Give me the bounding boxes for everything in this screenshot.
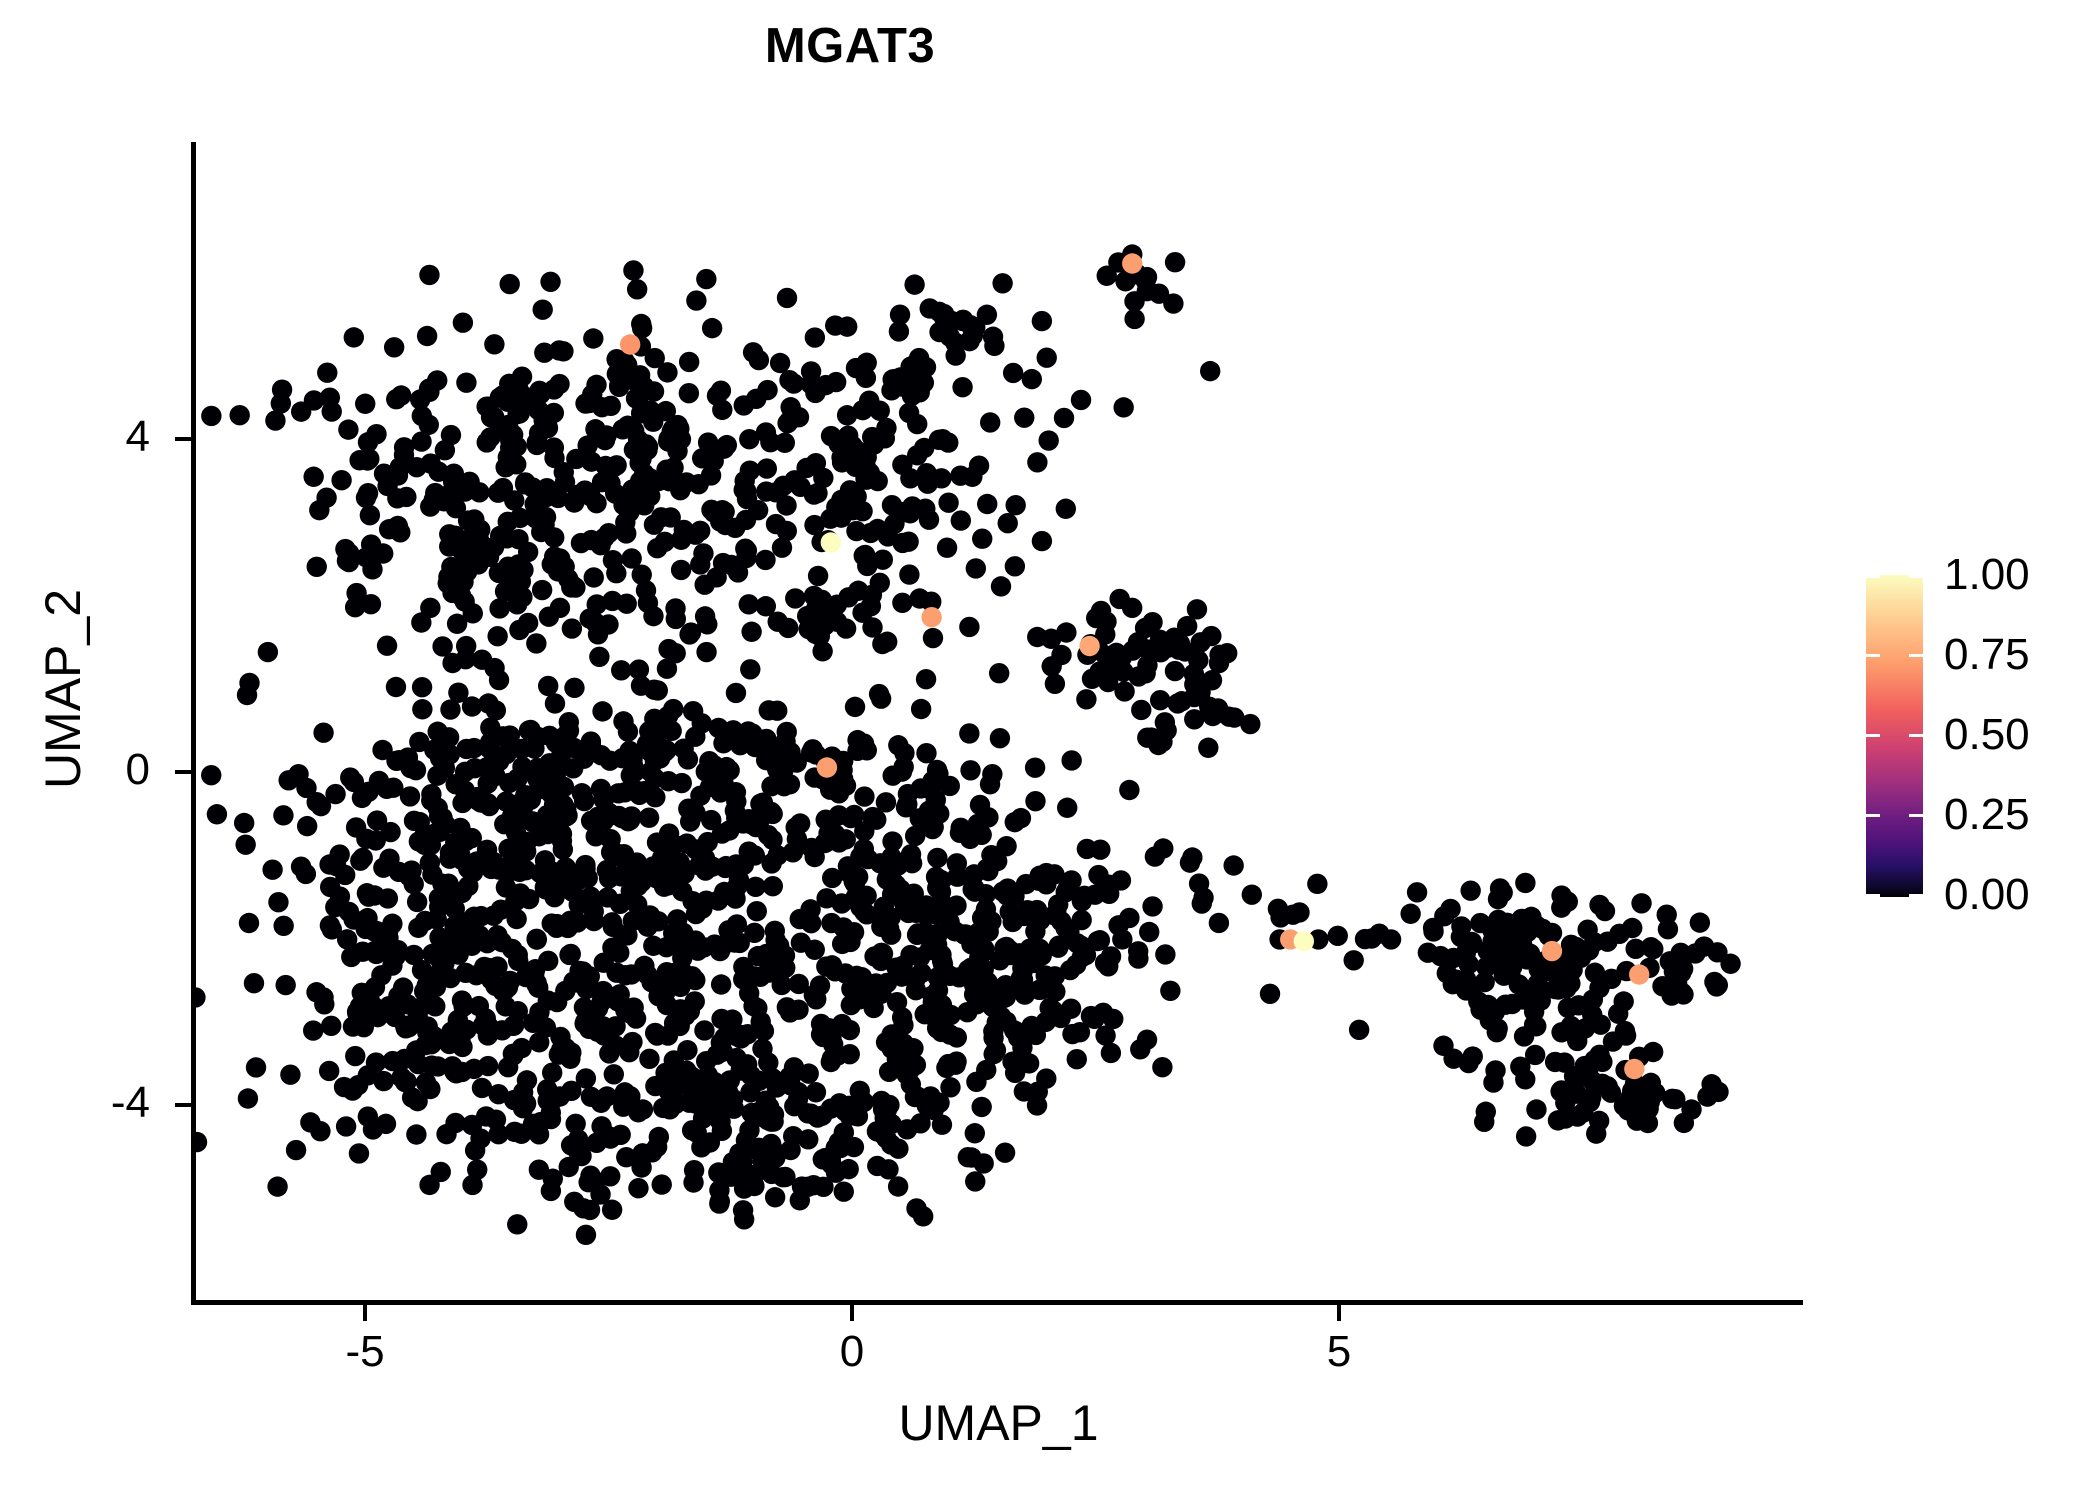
scatter-point xyxy=(1003,363,1023,383)
scatter-point xyxy=(1056,622,1076,642)
scatter-point xyxy=(1407,882,1427,902)
scatter-point xyxy=(777,413,797,433)
scatter-point xyxy=(989,663,1009,683)
scatter-point xyxy=(779,1066,799,1086)
scatter-point xyxy=(807,483,827,503)
scatter-point xyxy=(352,788,372,808)
scatter-point xyxy=(602,1200,622,1220)
scatter-point xyxy=(907,414,927,434)
scatter-point xyxy=(631,449,651,469)
scatter-point xyxy=(1010,943,1030,963)
scatter-point xyxy=(1198,738,1218,758)
scatter-point xyxy=(472,1078,492,1098)
scatter-point xyxy=(712,500,732,520)
scatter-point xyxy=(390,457,410,477)
scatter-point xyxy=(303,467,323,487)
scatter-point xyxy=(357,450,377,470)
scatter-point xyxy=(1577,920,1597,940)
scatter-point xyxy=(1165,252,1185,272)
scatter-point xyxy=(594,788,614,808)
scatter-point xyxy=(296,778,316,798)
scatter-point xyxy=(828,434,848,454)
scatter-point xyxy=(870,573,890,593)
scatter-point xyxy=(201,406,221,426)
scatter-point xyxy=(679,383,699,403)
scatter-point xyxy=(773,476,793,496)
scatter-point xyxy=(539,726,559,746)
scatter-point xyxy=(601,396,621,416)
scatter-point xyxy=(1122,253,1142,273)
scatter-point xyxy=(621,964,641,984)
scatter-point xyxy=(366,424,386,444)
scatter-point xyxy=(1490,954,1510,974)
scatter-point xyxy=(1061,998,1081,1018)
scatter-point xyxy=(278,770,298,790)
scatter-point xyxy=(530,863,550,883)
scatter-point xyxy=(267,1176,287,1196)
scatter-point xyxy=(1603,1031,1623,1051)
scatter-point xyxy=(667,441,687,461)
scatter-point xyxy=(639,1049,659,1069)
scatter-point xyxy=(412,699,432,719)
scatter-point xyxy=(1122,598,1142,618)
scatter-point xyxy=(778,618,798,638)
scatter-point xyxy=(421,784,441,804)
scatter-point xyxy=(736,481,756,501)
scatter-point xyxy=(1095,1025,1115,1045)
scatter-point xyxy=(844,922,864,942)
scatter-point xyxy=(938,1054,958,1074)
scatter-layer xyxy=(194,142,1803,1303)
scatter-point xyxy=(633,1099,653,1119)
scatter-point xyxy=(586,826,606,846)
scatter-point xyxy=(1071,910,1091,930)
scatter-point xyxy=(1165,661,1185,681)
scatter-point xyxy=(962,467,982,487)
scatter-point xyxy=(586,493,606,513)
scatter-point xyxy=(291,401,311,421)
scatter-point xyxy=(965,1123,985,1143)
scatter-point xyxy=(671,560,691,580)
scatter-point xyxy=(408,918,428,938)
scatter-point xyxy=(977,305,997,325)
scatter-point xyxy=(498,977,518,997)
scatter-point xyxy=(1672,982,1692,1002)
scatter-point xyxy=(919,509,939,529)
scatter-point xyxy=(733,1200,753,1220)
colorbar-tick-label: 0.50 xyxy=(1944,713,2094,757)
scatter-point xyxy=(1160,981,1180,1001)
scatter-point xyxy=(679,352,699,372)
scatter-point xyxy=(529,1032,549,1052)
scatter-point xyxy=(486,700,506,720)
scatter-point xyxy=(532,299,552,319)
scatter-point xyxy=(1223,855,1243,875)
colorbar-tick xyxy=(1909,734,1923,737)
scatter-point xyxy=(711,974,731,994)
scatter-point xyxy=(442,1056,462,1076)
scatter-point xyxy=(1294,931,1314,951)
scatter-point xyxy=(420,453,440,473)
scatter-point xyxy=(584,911,604,931)
scatter-point xyxy=(246,1057,266,1077)
scatter-point xyxy=(1032,311,1052,331)
scatter-point xyxy=(991,576,1011,596)
scatter-point xyxy=(542,822,562,842)
scatter-point xyxy=(373,543,393,563)
scatter-point xyxy=(641,972,661,992)
scatter-point xyxy=(321,1016,341,1036)
scatter-point xyxy=(507,594,527,614)
scatter-point xyxy=(1474,972,1494,992)
scatter-point xyxy=(523,813,543,833)
scatter-point xyxy=(737,540,757,560)
scatter-point xyxy=(803,1175,823,1195)
scatter-point xyxy=(680,811,700,831)
scatter-point xyxy=(466,965,486,985)
scatter-point xyxy=(484,334,504,354)
scatter-point xyxy=(432,636,452,656)
scatter-point xyxy=(1555,1108,1575,1128)
scatter-point xyxy=(966,558,986,578)
y-axis-title: UMAP_2 xyxy=(34,339,92,1039)
scatter-point xyxy=(662,859,682,879)
scatter-point xyxy=(1476,1102,1496,1122)
scatter-point xyxy=(1629,964,1649,984)
scatter-point xyxy=(244,973,264,993)
scatter-point xyxy=(1670,963,1690,983)
scatter-point xyxy=(1113,397,1133,417)
scatter-point xyxy=(427,909,447,929)
scatter-point xyxy=(539,606,559,626)
scatter-point xyxy=(618,722,638,742)
colorbar-tick-label: 1.00 xyxy=(1944,553,2094,597)
scatter-point xyxy=(356,829,376,849)
scatter-point xyxy=(1487,1018,1507,1038)
scatter-point xyxy=(665,598,685,618)
scatter-point xyxy=(1609,924,1629,944)
scatter-point xyxy=(1036,874,1056,894)
scatter-point xyxy=(659,823,679,843)
scatter-point xyxy=(1565,1071,1585,1091)
scatter-point xyxy=(1014,1081,1034,1101)
scatter-point xyxy=(1545,1052,1565,1072)
scatter-point xyxy=(821,1052,841,1072)
scatter-point xyxy=(890,305,910,325)
scatter-point xyxy=(1057,879,1077,899)
scatter-point xyxy=(435,758,455,778)
scatter-point xyxy=(1488,889,1508,909)
colorbar-tick xyxy=(1866,734,1880,737)
scatter-point xyxy=(938,493,958,513)
scatter-point xyxy=(576,1225,596,1245)
scatter-point xyxy=(1643,939,1663,959)
scatter-point xyxy=(714,1027,734,1047)
scatter-point xyxy=(702,318,722,338)
scatter-point xyxy=(489,670,509,690)
scatter-point xyxy=(708,890,728,910)
scatter-point xyxy=(904,274,924,294)
scatter-point xyxy=(1056,499,1076,519)
scatter-point xyxy=(864,434,884,454)
scatter-point xyxy=(583,328,603,348)
scatter-point xyxy=(594,1025,614,1045)
scatter-point xyxy=(1643,1042,1663,1062)
scatter-point xyxy=(659,1078,679,1098)
scatter-point xyxy=(685,524,705,544)
scatter-point xyxy=(693,543,713,563)
scatter-point xyxy=(617,594,637,614)
scatter-point xyxy=(1485,1060,1505,1080)
scatter-point xyxy=(506,909,526,929)
scatter-point xyxy=(1008,1027,1028,1047)
scatter-point xyxy=(558,918,578,938)
scatter-point xyxy=(837,405,857,425)
scatter-point xyxy=(1580,1092,1600,1112)
scatter-point xyxy=(611,847,631,867)
scatter-point xyxy=(645,787,665,807)
scatter-point xyxy=(436,1124,456,1144)
scatter-point xyxy=(726,1048,746,1068)
scatter-point xyxy=(770,353,790,373)
scatter-point xyxy=(961,1147,981,1167)
scatter-point xyxy=(519,889,539,909)
colorbar-tick xyxy=(1909,894,1923,897)
scatter-point xyxy=(846,358,866,378)
scatter-point xyxy=(893,1015,913,1035)
scatter-point xyxy=(840,480,860,500)
scatter-point xyxy=(941,310,961,330)
scatter-point xyxy=(834,1181,854,1201)
scatter-point xyxy=(346,583,366,603)
scatter-point xyxy=(817,757,837,777)
scatter-point xyxy=(1097,657,1117,677)
scatter-point xyxy=(557,873,577,893)
scatter-point xyxy=(640,473,660,493)
scatter-point xyxy=(788,999,808,1019)
scatter-point xyxy=(414,826,434,846)
scatter-point xyxy=(1090,839,1110,859)
scatter-point xyxy=(496,744,516,764)
scatter-point xyxy=(741,622,761,642)
scatter-point xyxy=(860,523,880,543)
scatter-point xyxy=(358,1106,378,1126)
scatter-point xyxy=(1022,369,1042,389)
scatter-point xyxy=(774,776,794,796)
scatter-point xyxy=(412,677,432,697)
scatter-point xyxy=(375,929,395,949)
scatter-point xyxy=(997,885,1017,905)
scatter-point xyxy=(338,419,358,439)
scatter-point xyxy=(529,1159,549,1179)
scatter-point xyxy=(877,869,897,889)
scatter-point xyxy=(909,588,929,608)
scatter-point xyxy=(888,1176,908,1196)
x-tick-mark xyxy=(1337,1305,1341,1321)
scatter-point xyxy=(360,505,380,525)
scatter-point xyxy=(428,722,448,742)
scatter-point xyxy=(990,728,1010,748)
scatter-point xyxy=(921,607,941,627)
scatter-point xyxy=(502,939,522,959)
scatter-point xyxy=(422,864,442,884)
scatter-point xyxy=(574,997,594,1017)
scatter-point xyxy=(1638,1113,1658,1133)
scatter-point xyxy=(1690,912,1710,932)
scatter-point xyxy=(396,1018,416,1038)
scatter-point xyxy=(928,980,948,1000)
scatter-point xyxy=(776,495,796,515)
scatter-point xyxy=(872,634,892,654)
scatter-point xyxy=(1061,750,1081,770)
scatter-point xyxy=(707,386,727,406)
scatter-point xyxy=(389,750,409,770)
scatter-point xyxy=(1036,1068,1056,1088)
scatter-point xyxy=(421,1034,441,1054)
scatter-point xyxy=(616,523,636,543)
scatter-point xyxy=(1070,1022,1090,1042)
scatter-point xyxy=(697,614,717,634)
scatter-point xyxy=(821,532,841,552)
scatter-point xyxy=(1423,921,1443,941)
scatter-point xyxy=(541,1181,561,1201)
scatter-point xyxy=(619,1042,639,1062)
scatter-point xyxy=(734,395,754,415)
scatter-point xyxy=(272,379,292,399)
scatter-point xyxy=(383,778,403,798)
scatter-point xyxy=(805,624,825,644)
scatter-point xyxy=(458,876,478,896)
x-tick-label: 0 xyxy=(772,1327,932,1377)
scatter-point xyxy=(1152,1057,1172,1077)
scatter-point xyxy=(979,921,999,941)
scatter-point xyxy=(1440,899,1460,919)
scatter-point xyxy=(480,732,500,752)
scatter-point xyxy=(472,649,492,669)
scatter-point xyxy=(603,550,623,570)
scatter-point xyxy=(617,416,637,436)
colorbar-legend: 1.00 0.75 0.50 0.25 0.00 xyxy=(1866,575,2066,897)
scatter-point xyxy=(538,990,558,1010)
scatter-point xyxy=(1551,1022,1571,1042)
scatter-point xyxy=(384,337,404,357)
colorbar-tick-label: 0.75 xyxy=(1944,633,2094,677)
scatter-point xyxy=(639,808,659,828)
scatter-point xyxy=(740,1082,760,1102)
scatter-point xyxy=(906,1198,926,1218)
scatter-point xyxy=(303,1020,323,1040)
scatter-point xyxy=(598,523,618,543)
scatter-point xyxy=(1468,991,1488,1011)
scatter-point xyxy=(1139,922,1159,942)
scatter-point xyxy=(1521,907,1541,927)
scatter-point xyxy=(619,741,639,761)
scatter-point xyxy=(613,1097,633,1117)
scatter-point xyxy=(1595,901,1615,921)
scatter-point xyxy=(998,513,1018,533)
scatter-point xyxy=(952,377,972,397)
scatter-point xyxy=(801,742,821,762)
scatter-point xyxy=(957,1002,977,1022)
scatter-point xyxy=(873,944,893,964)
scatter-point xyxy=(532,580,552,600)
scatter-point xyxy=(439,484,459,504)
scatter-point xyxy=(604,1064,624,1084)
scatter-point xyxy=(850,897,870,917)
scatter-point xyxy=(496,877,516,897)
scatter-point xyxy=(983,327,1003,347)
scatter-point xyxy=(739,594,759,614)
scatter-point xyxy=(882,831,902,851)
scatter-point xyxy=(376,1114,396,1134)
scatter-point xyxy=(753,792,773,812)
scatter-point xyxy=(599,1043,619,1063)
scatter-point xyxy=(286,1140,306,1160)
scatter-point xyxy=(837,316,857,336)
scatter-point xyxy=(947,1027,967,1047)
scatter-point xyxy=(1189,873,1209,893)
scatter-point xyxy=(871,688,891,708)
scatter-point xyxy=(1177,616,1197,636)
scatter-point xyxy=(1190,682,1210,702)
scatter-point xyxy=(940,1077,960,1097)
scatter-point xyxy=(411,612,431,632)
scatter-point xyxy=(610,1125,630,1145)
scatter-point xyxy=(275,975,295,995)
scatter-point xyxy=(678,749,698,769)
scatter-point xyxy=(513,560,533,580)
scatter-point xyxy=(407,892,427,912)
scatter-point xyxy=(888,1138,908,1158)
scatter-point xyxy=(905,354,925,374)
scatter-point xyxy=(686,904,706,924)
scatter-point xyxy=(417,326,437,346)
scatter-point xyxy=(1045,674,1065,694)
scatter-point xyxy=(1260,984,1280,1004)
scatter-point xyxy=(631,314,651,334)
scatter-point xyxy=(238,1088,258,1108)
scatter-point xyxy=(478,773,498,793)
scatter-point xyxy=(1163,293,1183,313)
scatter-point xyxy=(1067,933,1087,953)
colorbar-tick xyxy=(1866,814,1880,817)
scatter-point xyxy=(916,743,936,763)
scatter-point xyxy=(1458,954,1478,974)
scatter-point xyxy=(702,856,722,876)
scatter-point xyxy=(965,1171,985,1191)
scatter-point xyxy=(1153,838,1173,858)
scatter-point xyxy=(902,853,922,873)
scatter-point xyxy=(359,1003,379,1023)
scatter-point xyxy=(805,327,825,347)
scatter-point xyxy=(657,658,677,678)
scatter-point xyxy=(280,1064,300,1084)
scatter-point xyxy=(959,617,979,637)
scatter-point xyxy=(1242,884,1262,904)
scatter-point xyxy=(992,273,1012,293)
scatter-point xyxy=(1344,950,1364,970)
scatter-point xyxy=(657,362,677,382)
scatter-point xyxy=(707,1097,727,1117)
scatter-point xyxy=(972,529,992,549)
scatter-point xyxy=(407,1091,427,1111)
scatter-point xyxy=(1101,1043,1121,1063)
scatter-point xyxy=(447,913,467,933)
scatter-point xyxy=(479,796,499,816)
scatter-point xyxy=(537,478,557,498)
scatter-point xyxy=(761,1164,781,1184)
scatter-point xyxy=(471,906,491,926)
